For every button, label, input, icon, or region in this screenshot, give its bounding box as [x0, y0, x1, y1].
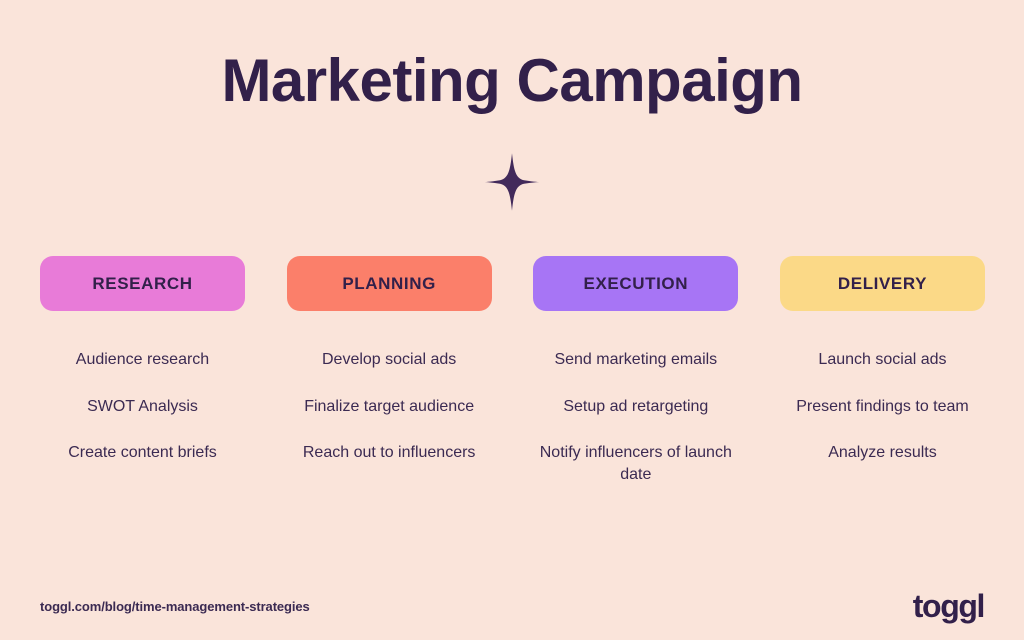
- stage-badge-label: RESEARCH: [92, 274, 192, 294]
- page-title: Marketing Campaign: [0, 48, 1024, 114]
- task-list-execution: Send marketing emails Setup ad retargeti…: [528, 349, 743, 485]
- toggl-logo: toggl: [913, 590, 984, 622]
- task-list-delivery: Launch social ads Present findings to te…: [775, 349, 990, 464]
- stage-badge-execution[interactable]: EXECUTION: [533, 256, 738, 311]
- source-url[interactable]: toggl.com/blog/time-management-strategie…: [40, 599, 310, 614]
- task-item: Setup ad retargeting: [528, 396, 743, 418]
- task-item: Present findings to team: [775, 396, 990, 418]
- stage-badge-planning[interactable]: PLANNING: [287, 256, 492, 311]
- stage-badge-delivery[interactable]: DELIVERY: [780, 256, 985, 311]
- stage-badge-label: EXECUTION: [584, 274, 689, 294]
- stage-badge-research[interactable]: RESEARCH: [40, 256, 245, 311]
- task-item: Launch social ads: [775, 349, 990, 371]
- stage-column-planning: PLANNING Develop social ads Finalize tar…: [287, 256, 492, 464]
- task-item: Analyze results: [775, 442, 990, 464]
- task-item: Notify influencers of launch date: [528, 442, 743, 485]
- stage-badge-label: DELIVERY: [838, 274, 927, 294]
- task-list-planning: Develop social ads Finalize target audie…: [282, 349, 497, 464]
- task-item: Audience research: [35, 349, 250, 371]
- task-item: Reach out to influencers: [282, 442, 497, 464]
- stage-column-execution: EXECUTION Send marketing emails Setup ad…: [533, 256, 738, 485]
- task-item: Finalize target audience: [282, 396, 497, 418]
- stage-column-delivery: DELIVERY Launch social ads Present findi…: [780, 256, 985, 464]
- stage-column-research: RESEARCH Audience research SWOT Analysis…: [40, 256, 245, 464]
- task-item: SWOT Analysis: [35, 396, 250, 418]
- stage-badge-label: PLANNING: [342, 274, 436, 294]
- task-item: Develop social ads: [282, 349, 497, 371]
- slide-canvas: Marketing Campaign RESEARCH Audience res…: [0, 0, 1024, 640]
- decoration-container: [0, 152, 1024, 212]
- stage-columns: RESEARCH Audience research SWOT Analysis…: [40, 256, 985, 485]
- task-item: Create content briefs: [35, 442, 250, 464]
- task-list-research: Audience research SWOT Analysis Create c…: [35, 349, 250, 464]
- sparkle-four-point-icon: [482, 152, 542, 212]
- task-item: Send marketing emails: [528, 349, 743, 371]
